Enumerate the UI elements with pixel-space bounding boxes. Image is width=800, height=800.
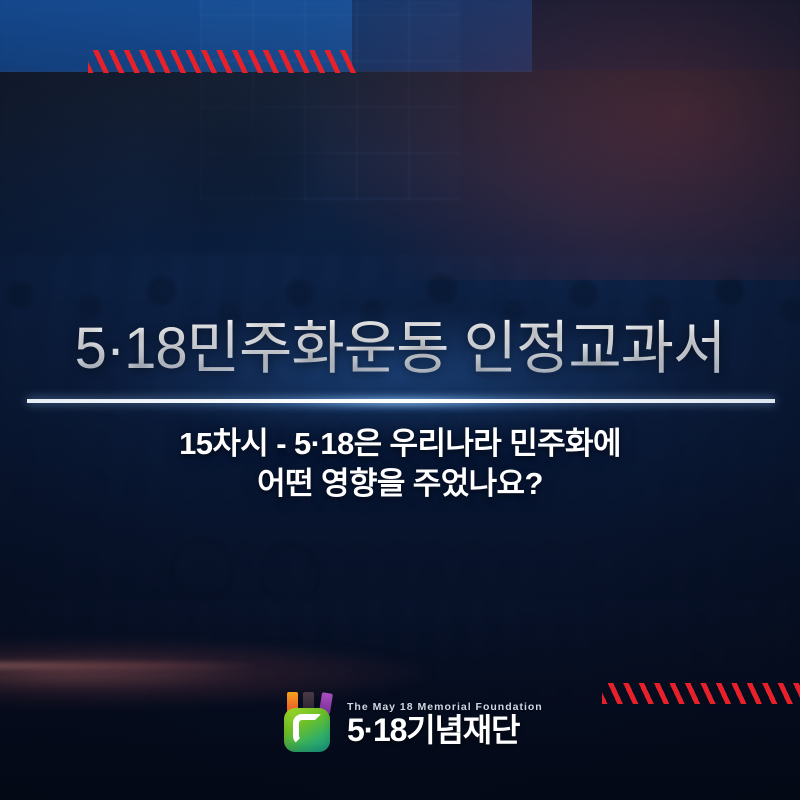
page-title: 5·18민주화운동 인정교과서 — [0, 318, 800, 381]
logo-green-square-icon — [284, 708, 330, 752]
divider-line — [27, 399, 775, 403]
top-blue-panel-extension — [352, 0, 532, 72]
divider — [0, 392, 800, 412]
foundation-logo-mark-icon — [282, 692, 338, 752]
foundation-logo[interactable]: The May 18 Memorial Foundation 5·18기념재단 — [282, 688, 522, 756]
foundation-logo-text: The May 18 Memorial Foundation 5·18기념재단 — [347, 699, 543, 746]
red-hatch-bottom-right-icon — [602, 683, 800, 704]
red-hatch-top-left-icon — [88, 50, 356, 73]
logo-five-glyph-icon — [293, 714, 321, 745]
foundation-korean-name: 5·18기념재단 — [347, 714, 543, 746]
slide-root: 5·18민주화운동 인정교과서 15차시 - 5·18은 우리나라 민주화에 어… — [0, 0, 800, 800]
foundation-english-name: The May 18 Memorial Foundation — [347, 701, 543, 713]
page-subtitle: 15차시 - 5·18은 우리나라 민주화에 어떤 영향을 주었나요? — [0, 424, 800, 505]
